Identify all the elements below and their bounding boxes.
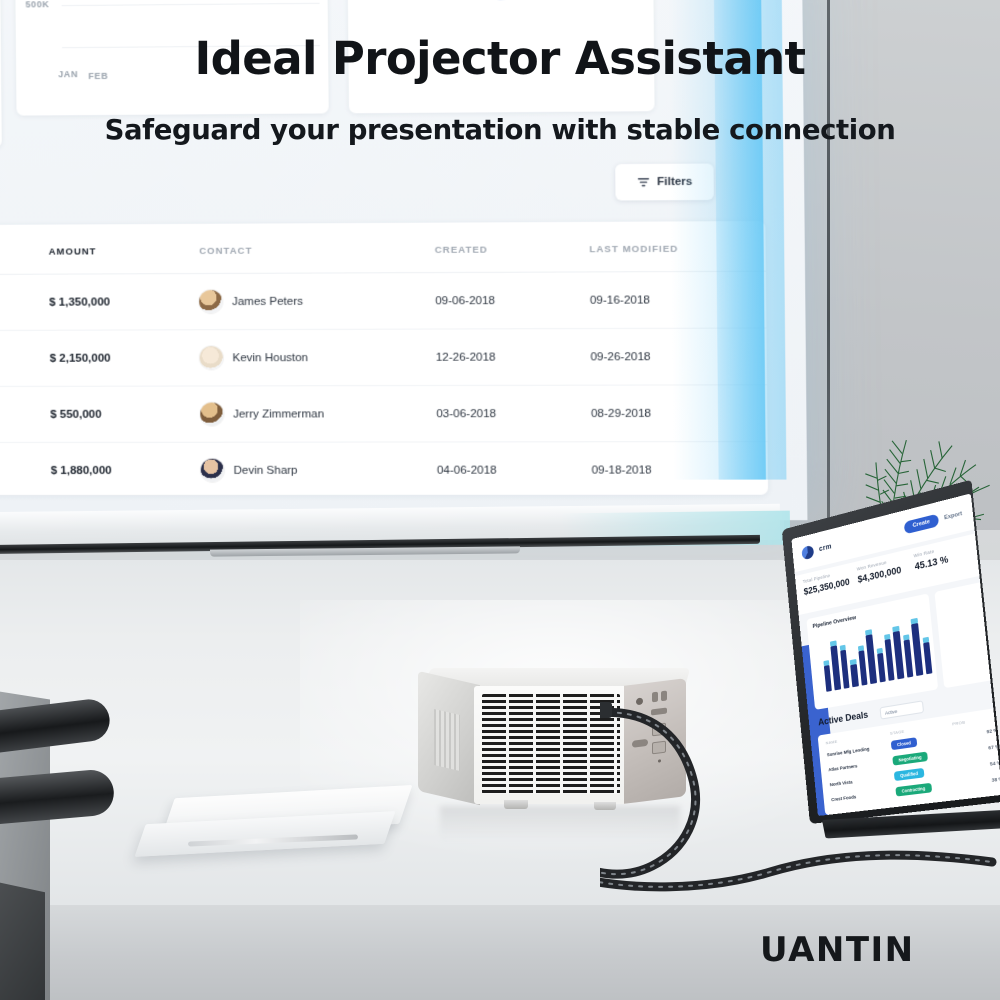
cell-type: A 7a	[0, 442, 51, 495]
bar	[850, 664, 858, 687]
avatar	[201, 403, 224, 426]
cell-contact: Jerry Zimmerman	[200, 385, 436, 442]
avatar	[201, 459, 224, 482]
cell-type: A 7a	[0, 274, 49, 331]
cell-created: 09-06-2018	[435, 272, 590, 329]
kpi-card: Win Rate 45.13 %	[913, 541, 970, 584]
filters-button[interactable]: Filters	[615, 164, 714, 201]
cell-contact: Devin Sharp	[201, 442, 437, 495]
table-row[interactable]: A 7a $ 1,880,000 Devin Sharp 04-06-2018 …	[0, 442, 768, 495]
export-link[interactable]: Export	[944, 511, 963, 522]
status-badge: Qualified	[894, 768, 925, 781]
bar	[923, 642, 933, 674]
col-header-type[interactable]: TYPE	[0, 225, 49, 275]
deal-probability: 54 %	[990, 760, 1000, 767]
crm-logo-text: crm	[819, 543, 832, 553]
laptop-screen: crm Create Export Total Pipeline $25,350…	[791, 493, 1000, 816]
cell-created: 03-06-2018	[436, 385, 591, 442]
table-row[interactable]: A 7a $ 1,350,000 James Peters 09-06-2018…	[0, 271, 766, 331]
cell-amount: $ 2,150,000	[49, 330, 200, 387]
avatar	[200, 290, 223, 313]
cable-connector	[600, 702, 612, 718]
bar	[840, 650, 850, 689]
projector-side-vent	[434, 709, 460, 771]
laptop-device: crm Create Export Total Pipeline $25,350…	[800, 524, 1000, 874]
contact-name: Devin Sharp	[234, 464, 298, 476]
cell-created: 04-06-2018	[437, 442, 592, 495]
bar	[858, 650, 867, 685]
create-button[interactable]: Create	[904, 514, 939, 535]
cell-amount: $ 550,000	[50, 386, 201, 442]
filters-label: Filters	[657, 176, 692, 188]
bar	[866, 634, 877, 684]
deal-name: North Vista	[830, 775, 889, 788]
bar	[877, 653, 886, 683]
y-axis-label-500k: 500K	[25, 0, 49, 9]
bar	[885, 639, 895, 681]
deals-table-card: TYPE AMOUNT CONTACT CREATED LAST MODIFIE…	[0, 221, 768, 495]
col-header-amount[interactable]: AMOUNT	[48, 224, 199, 274]
cell-created: 12-26-2018	[435, 329, 590, 386]
cell-type: A 504	[0, 386, 50, 442]
deal-name: Sunrise Mfg Lending	[827, 744, 886, 758]
avatar	[200, 346, 223, 369]
cell-contact: James Peters	[199, 273, 435, 330]
crm-logo-icon	[801, 544, 814, 560]
col-header-contact[interactable]: CONTACT	[199, 223, 435, 274]
contact-name: James Peters	[232, 295, 303, 307]
donut-chart-svg	[347, 0, 653, 15]
projector-foot-left	[504, 800, 528, 809]
deals-filter-dropdown[interactable]: Active	[880, 700, 925, 719]
page-subtitle: Safeguard your presentation with stable …	[0, 114, 1000, 146]
kpi-card: Won Revenue $4,300,000	[856, 555, 910, 597]
cell-amount: $ 1,880,000	[50, 442, 201, 495]
status-badge: Closed	[891, 737, 918, 750]
col-header-created[interactable]: CREATED	[434, 222, 589, 273]
table-row[interactable]: A 7a $ 2,150,000 Kevin Houston 12-26-201…	[0, 328, 767, 387]
brand-name: UANTIN	[760, 930, 915, 970]
deals-col-prob: PROB	[952, 719, 966, 726]
kpi-card: Total Pipeline $25,350,000	[803, 568, 854, 609]
deal-probability: 38 %	[991, 776, 1000, 783]
deals-filter-value: Active	[885, 708, 898, 715]
cell-amount: $ 1,350,000	[49, 274, 200, 331]
cell-type: A 7a	[0, 330, 50, 386]
brand-logo: UANTIN	[760, 930, 915, 970]
status-badge: Contracting	[895, 783, 931, 797]
deal-name: Crest Foods	[831, 790, 890, 802]
table-header-row: TYPE AMOUNT CONTACT CREATED LAST MODIFIE…	[0, 221, 766, 275]
table-row[interactable]: A 504 $ 550,000 Jerry Zimmerman 03-06-20…	[0, 385, 768, 443]
page-title: Ideal Projector Assistant	[0, 36, 1000, 81]
bar	[824, 665, 832, 692]
cell-contact: Kevin Houston	[200, 329, 436, 386]
deals-table: TYPE AMOUNT CONTACT CREATED LAST MODIFIE…	[0, 221, 768, 495]
bar	[903, 639, 913, 677]
product-marketing-image: 1 M 500K JAN FEB TOTAL	[0, 0, 1000, 1000]
bar	[911, 623, 923, 676]
deal-name: Atlas Partners	[828, 759, 887, 772]
status-badge: Negotiating	[892, 752, 928, 766]
laptop-bar-chart-card: Pipeline Overview	[806, 593, 938, 710]
contact-name: Jerry Zimmerman	[233, 408, 324, 420]
laptop-bar-group	[821, 615, 932, 692]
line-chart-svg	[55, 0, 329, 27]
funnel-icon	[637, 177, 650, 188]
contact-name: Kevin Houston	[232, 352, 308, 364]
